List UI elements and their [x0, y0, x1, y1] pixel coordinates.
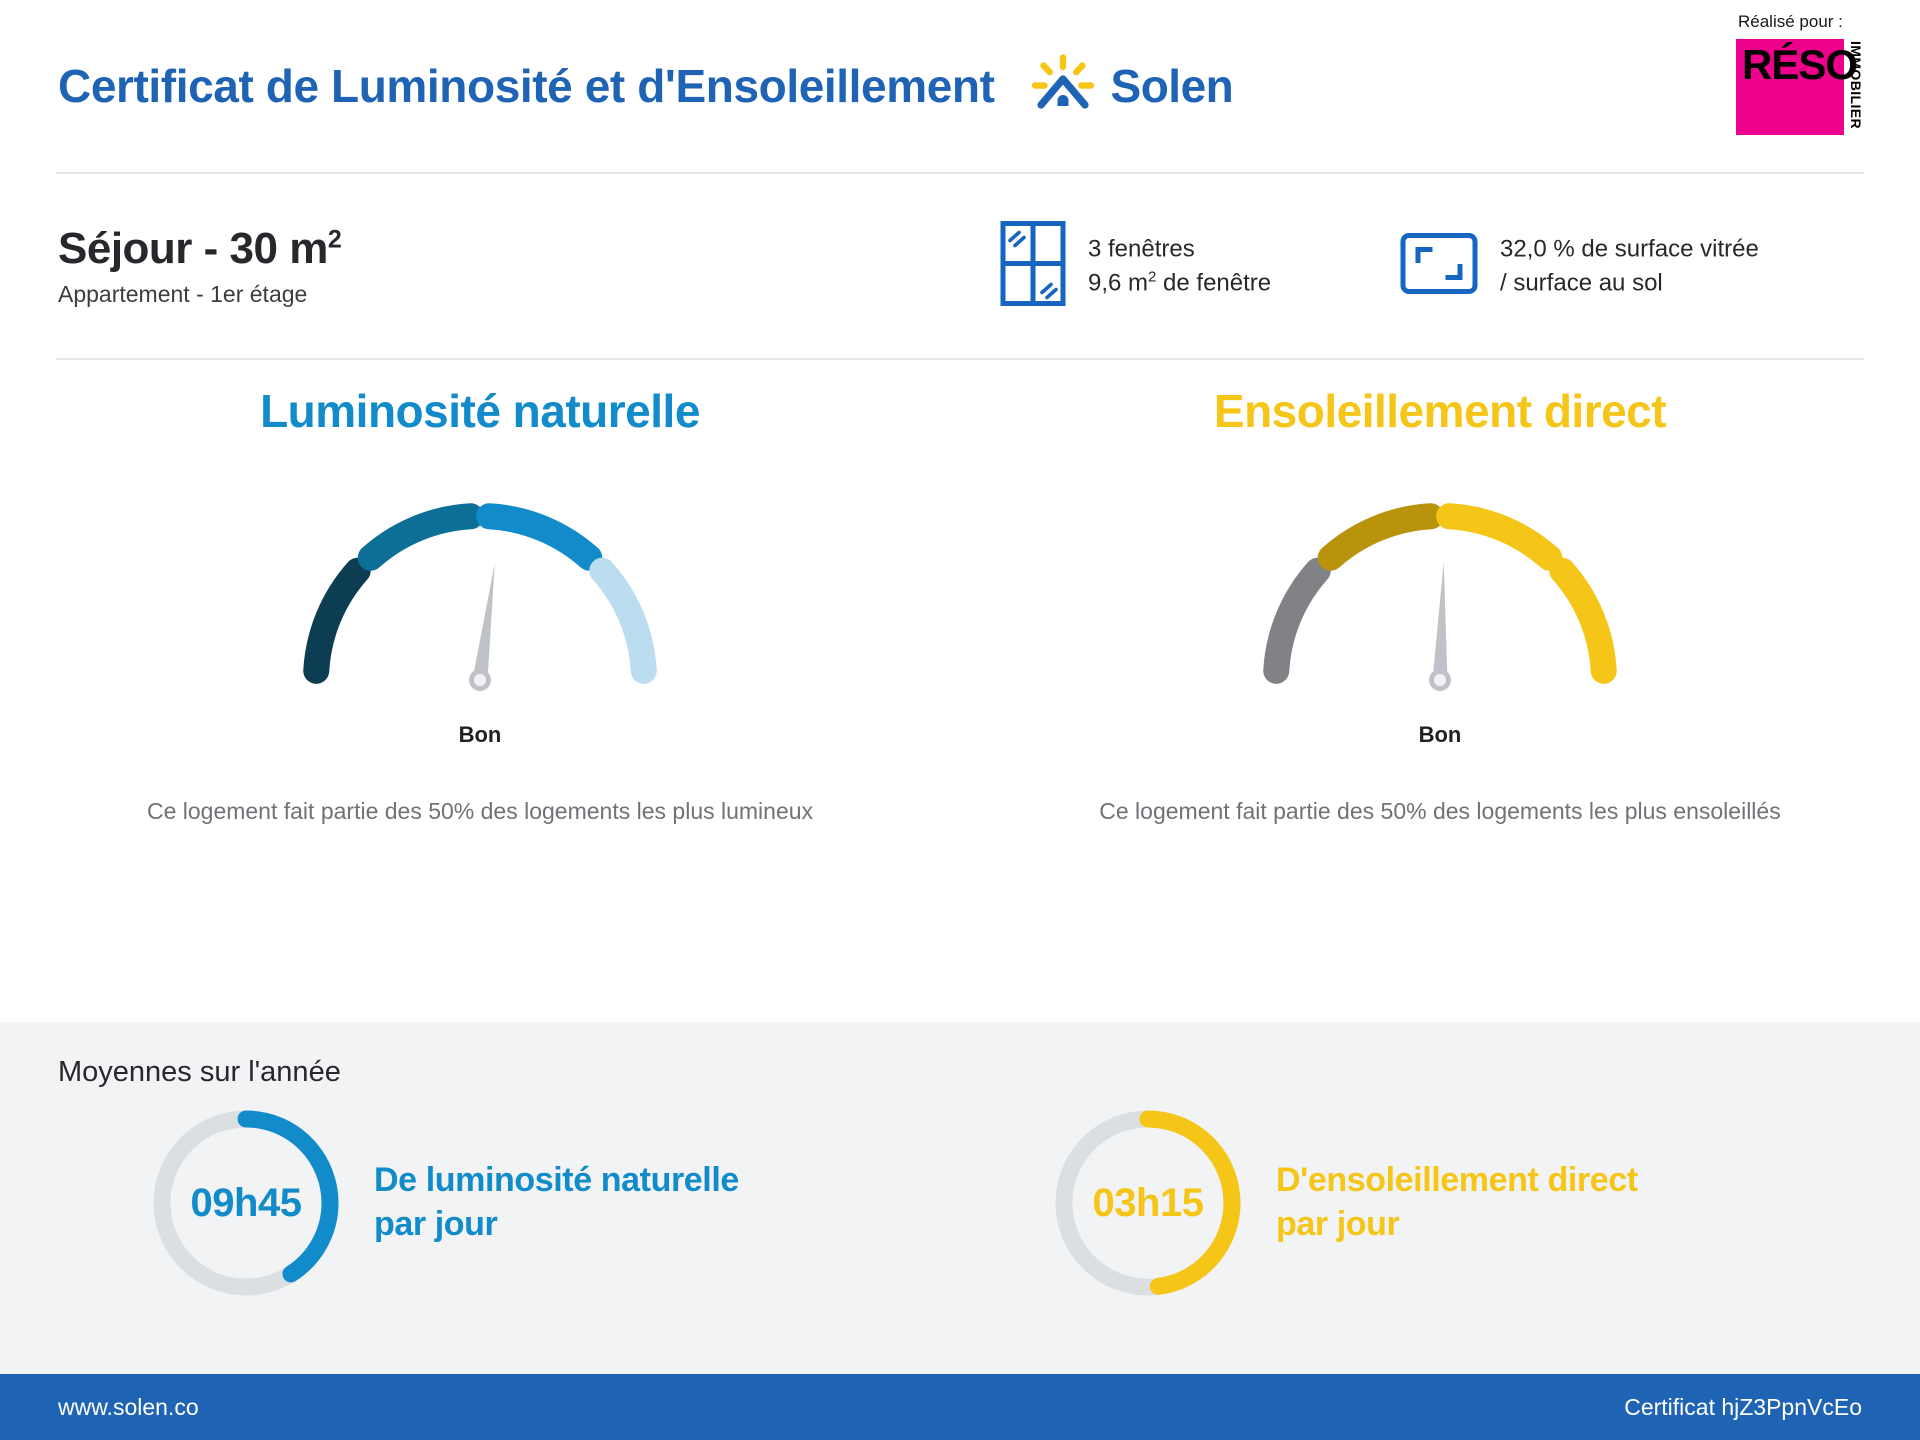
window-icon [1000, 221, 1066, 312]
glazing-ratio-text: 32,0 % de surface vitrée / surface au so… [1500, 233, 1759, 299]
gauge-segment [489, 516, 589, 557]
reso-immobilier-logo: RÉSO IMMOBILIER [1736, 39, 1864, 135]
glazing-ratio-stat: 32,0 % de surface vitrée / surface au so… [1400, 233, 1759, 300]
solen-wordmark: Solen [1111, 59, 1234, 113]
certificate-page: Certificat de Luminosité et d'Ensoleille… [0, 0, 1920, 1440]
solen-logo: Solen [1031, 54, 1234, 118]
sun-house-icon [1031, 54, 1095, 118]
room-block: Séjour - 30 m2 Appartement - 1er étage [58, 224, 341, 308]
room-title-exponent: 2 [328, 225, 341, 253]
luminosite-donut-wrap: 09h45 [146, 1103, 346, 1303]
room-title-text: Séjour - 30 m [58, 224, 328, 273]
gauge-segment [1331, 516, 1431, 557]
realise-pour-label: Réalisé pour : [1738, 12, 1843, 32]
room-title: Séjour - 30 m2 [58, 224, 341, 274]
gauge-needle [473, 563, 495, 681]
glazing-ratio-line2: / surface au sol [1500, 266, 1759, 299]
luminosite-average: 09h45 De luminosité naturelle par jour [58, 1103, 960, 1303]
realise-pour-block: Réalisé pour : RÉSO IMMOBILIER [1736, 12, 1864, 135]
gauge-segment [371, 516, 471, 557]
gauge-segment [602, 571, 643, 671]
gauge-segment [1449, 516, 1549, 557]
ensoleillement-heading: Ensoleillement direct [1214, 384, 1666, 438]
ensoleillement-donut-label-line2: par jour [1276, 1203, 1638, 1247]
gauge-needle-hub-inner [474, 674, 486, 686]
luminosite-description: Ce logement fait partie des 50% des loge… [130, 794, 830, 830]
gauge-needle [1433, 562, 1448, 680]
averages-panel: Moyennes sur l'année 09h45 De luminosité… [0, 1022, 1920, 1374]
ensoleillement-gauge-block: Ensoleillement direct Bon Ce logement fa… [960, 384, 1920, 1022]
ensoleillement-gauge [1180, 448, 1700, 720]
window-stat: 3 fenêtres 9,6 m2 de fenêtre [1000, 221, 1271, 312]
luminosite-donut-value: 09h45 [146, 1103, 346, 1303]
reso-subtitle: IMMOBILIER [1848, 41, 1864, 133]
gauge-segment [1276, 571, 1317, 671]
glazing-ratio-line1: 32,0 % de surface vitrée [1500, 233, 1759, 266]
window-stat-text: 3 fenêtres 9,6 m2 de fenêtre [1088, 233, 1271, 299]
ensoleillement-donut-label: D'ensoleillement direct par jour [1276, 1159, 1638, 1246]
ensoleillement-donut-value: 03h15 [1048, 1103, 1248, 1303]
ensoleillement-average: 03h15 D'ensoleillement direct par jour [960, 1103, 1862, 1303]
ensoleillement-description: Ce logement fait partie des 50% des loge… [1090, 794, 1790, 830]
luminosite-rating: Bon [459, 722, 502, 748]
footer-certificate-id: Certificat hjZ3PpnVcEo [1624, 1394, 1862, 1421]
floor-area-icon [1400, 233, 1478, 300]
window-area-value: 9,6 m [1088, 269, 1148, 296]
footer-website[interactable]: www.solen.co [58, 1394, 199, 1421]
luminosite-donut-label-line2: par jour [374, 1203, 739, 1247]
ensoleillement-rating: Bon [1419, 722, 1462, 748]
reso-wordmark: RÉSO [1742, 41, 1857, 89]
averages-row: 09h45 De luminosité naturelle par jour 0… [58, 1103, 1862, 1303]
page-footer: www.solen.co Certificat hjZ3PpnVcEo [0, 1374, 1920, 1440]
ensoleillement-donut-label-line1: D'ensoleillement direct [1276, 1159, 1638, 1203]
gauge-segment [316, 571, 357, 671]
gauge-needle-hub-inner [1434, 674, 1446, 686]
window-count: 3 fenêtres [1088, 233, 1271, 266]
luminosite-donut-label: De luminosité naturelle par jour [374, 1159, 739, 1246]
luminosite-gauge-block: Luminosité naturelle Bon Ce logement fai… [0, 384, 960, 1022]
room-subtitle: Appartement - 1er étage [58, 281, 341, 308]
window-area: 9,6 m2 de fenêtre [1088, 266, 1271, 299]
gauge-segment [1562, 571, 1603, 671]
luminosite-heading: Luminosité naturelle [260, 384, 700, 438]
window-area-unit: de fenêtre [1156, 269, 1271, 296]
page-header: Certificat de Luminosité et d'Ensoleille… [0, 0, 1920, 172]
ensoleillement-donut-wrap: 03h15 [1048, 1103, 1248, 1303]
gauges-section: Luminosité naturelle Bon Ce logement fai… [0, 360, 1920, 1022]
luminosite-gauge [220, 448, 740, 720]
page-title: Certificat de Luminosité et d'Ensoleille… [58, 59, 995, 113]
room-info-row: Séjour - 30 m2 Appartement - 1er étage [0, 174, 1920, 358]
averages-title: Moyennes sur l'année [58, 1056, 1862, 1089]
luminosite-donut-label-line1: De luminosité naturelle [374, 1159, 739, 1203]
